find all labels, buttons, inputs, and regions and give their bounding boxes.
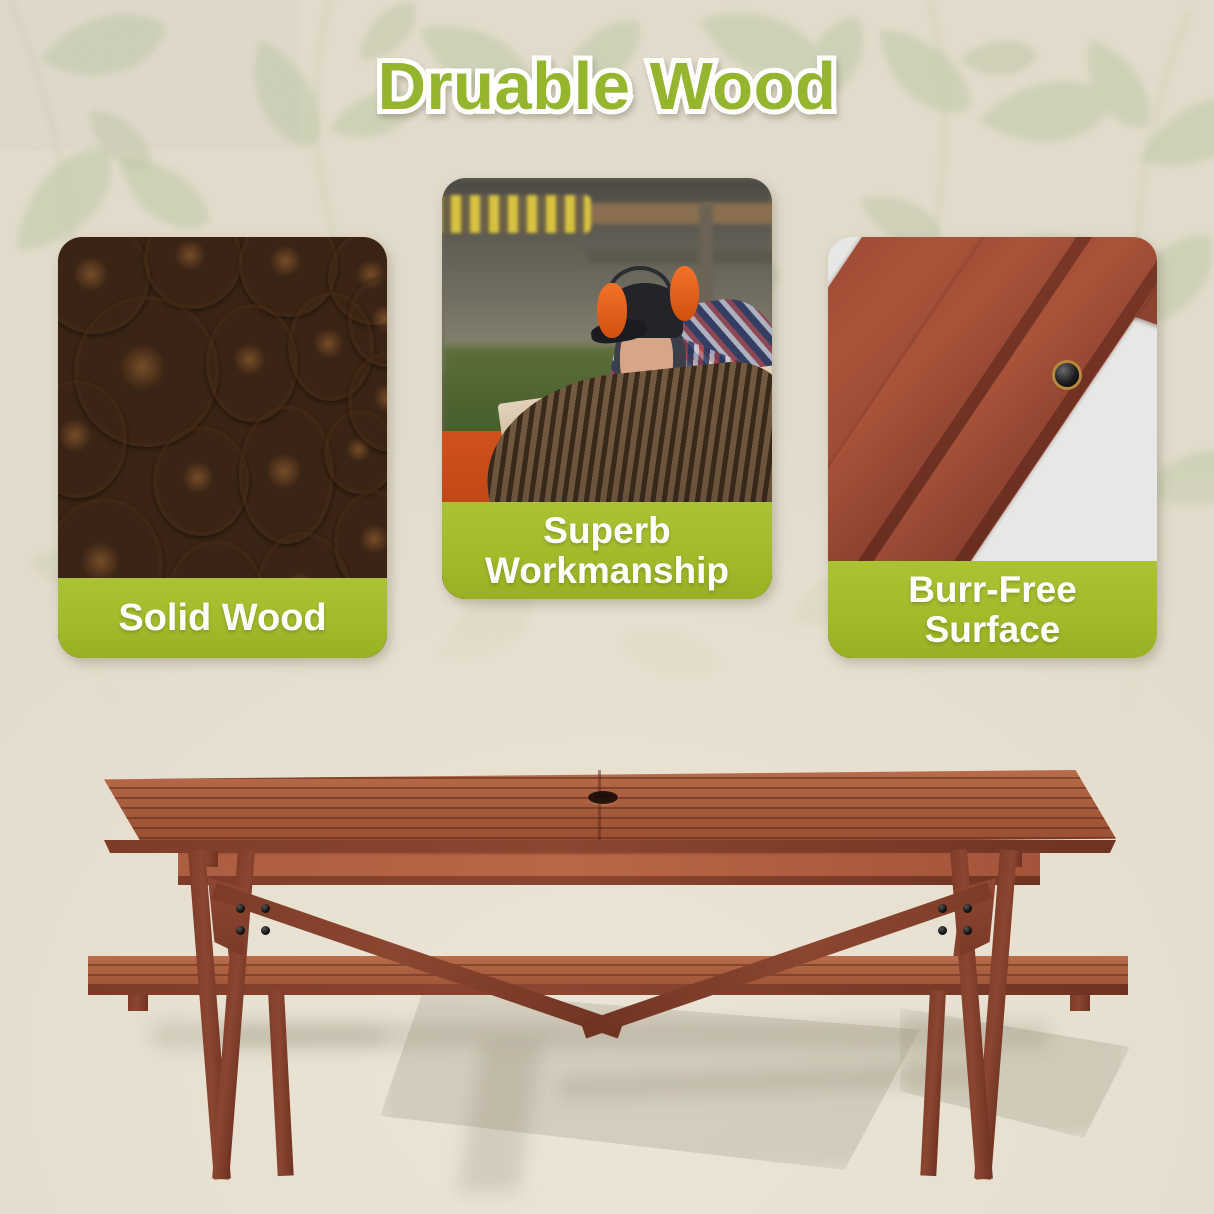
card-label-line: Surface	[925, 610, 1061, 650]
card-banner-workmanship: Superb Workmanship	[442, 502, 772, 599]
left-frame-bolt	[236, 926, 245, 935]
card-label-line: Burr-Free	[908, 570, 1077, 610]
front-left-leg	[268, 990, 294, 1177]
rear-bench-seat-edge	[178, 876, 1040, 885]
right-frame-bolt	[938, 926, 947, 935]
rear-bench-seat	[178, 854, 1040, 876]
umbrella-hole	[588, 791, 618, 804]
page-title: Druable Wood	[0, 48, 1214, 125]
card-label-line: Solid Wood	[118, 598, 326, 639]
wooden-picnic-table-with-benches-photo	[0, 690, 1214, 1214]
left-frame-bolt	[261, 904, 270, 913]
card-label-line: Superb	[543, 511, 670, 551]
infographic-canvas: Druable Wood Solid Wood	[0, 0, 1214, 1214]
tabletop-center-seam	[598, 770, 601, 848]
right-frame-bolt	[938, 904, 947, 913]
right-frame-bolt	[963, 926, 972, 935]
card-label-line: Workmanship	[485, 551, 729, 591]
feature-card-burr-free[interactable]: Burr-Free Surface	[828, 237, 1157, 658]
left-frame-bolt	[261, 926, 270, 935]
tabletop-slat-grooves	[104, 770, 1116, 848]
left-frame-bolt	[236, 904, 245, 913]
right-frame-bolt	[963, 904, 972, 913]
front-bench-cleat	[1070, 995, 1090, 1011]
card-banner-burr-free: Burr-Free Surface	[828, 561, 1157, 658]
card-banner-solid-wood: Solid Wood	[58, 578, 387, 658]
feature-card-solid-wood[interactable]: Solid Wood	[58, 237, 387, 658]
front-bench-cleat	[128, 995, 148, 1011]
feature-card-workmanship[interactable]: Superb Workmanship	[442, 178, 772, 599]
